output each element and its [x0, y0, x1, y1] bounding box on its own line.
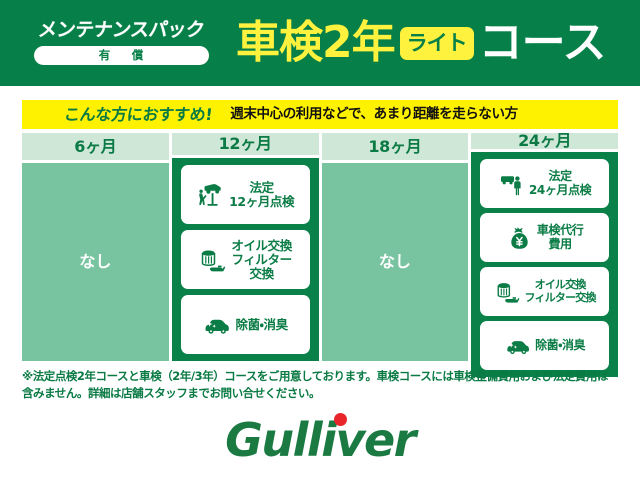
- header-banner: メンテナンスパック 有 償 車検2年 ライト コース: [0, 0, 640, 86]
- footnote: ※法定点検2年コースと車検（2年/3年）コースをご用意しております。車検コースに…: [22, 368, 622, 401]
- course-title-course: コース: [479, 21, 606, 65]
- footnote-line-1: ※法定点検2年コースと車検（2年/3年）コースをご用意しております。車検コースに…: [22, 368, 622, 385]
- column-body-6-months: なし: [22, 163, 169, 361]
- column-body-24-months: 法定 24ヶ月点検: [471, 152, 618, 377]
- service-item: 除菌・消臭: [181, 295, 310, 354]
- table-column-24-months: 24ヶ月: [471, 133, 618, 361]
- service-item-label: 法定 24ヶ月点検: [529, 170, 591, 197]
- oil-filter-and-oil-can-icon: [198, 246, 228, 274]
- service-item-label: オイル交換 フィルター交換: [525, 279, 596, 304]
- service-item: 除菌・消臭: [480, 321, 609, 370]
- gulliver-logo-text: Gulliver: [225, 417, 415, 463]
- recommendation-heading: こんな方におすすめ!: [63, 107, 213, 123]
- car-sparkle-icon: [202, 311, 232, 339]
- light-badge: ライト: [400, 27, 474, 60]
- column-header-label: 6ヶ月: [74, 139, 116, 155]
- brand-logo: Gulliver: [0, 412, 640, 468]
- service-item-label: 車検代行 費用: [537, 224, 583, 251]
- course-title-block: 車検2年 ライト コース: [236, 21, 640, 65]
- money-bag-yen-icon: [506, 225, 534, 251]
- service-item-label: 法定 12ヶ月点検: [229, 181, 294, 209]
- service-item: オイル交換 フィルター交換: [480, 267, 609, 316]
- maintenance-pack-poster: メンテナンスパック 有 償 車検2年 ライト コース こんな方におすすめ! 週末…: [0, 0, 640, 480]
- maintenance-pack-block: メンテナンスパック 有 償: [12, 21, 230, 65]
- paid-pill: 有 償: [34, 46, 209, 65]
- table-column-18-months: 18ヶ月 なし: [322, 133, 469, 361]
- footnote-line-2: 含みません。詳細は店舗スタッフまでお問い合せください。: [22, 385, 622, 402]
- table-column-6-months: 6ヶ月 なし: [22, 133, 169, 361]
- recommendation-bar: こんな方におすすめ! 週末中心の利用などで、あまり距離を走らない方: [22, 100, 618, 129]
- course-title-shaken: 車検2年: [236, 21, 395, 65]
- column-header-label: 24ヶ月: [518, 133, 571, 149]
- column-header-label: 12ヶ月: [219, 136, 272, 152]
- service-item-label: オイル交換 フィルター 交換: [231, 239, 292, 281]
- column-header-24-months: 24ヶ月: [471, 133, 618, 149]
- column-header-label: 18ヶ月: [368, 139, 421, 155]
- car-sparkle-icon: [504, 333, 532, 359]
- column-header-6-months: 6ヶ月: [22, 133, 169, 160]
- paid-label: 有 償: [94, 50, 149, 62]
- service-schedule-table: 6ヶ月 なし 12ヶ月: [22, 133, 618, 361]
- service-item: 車検代行 費用: [480, 213, 609, 262]
- car-inspection-staff-icon: [498, 171, 526, 197]
- column-body-18-months: なし: [322, 163, 469, 361]
- no-service-label: なし: [79, 254, 111, 270]
- table-column-12-months: 12ヶ月: [172, 133, 319, 361]
- service-item: 法定 12ヶ月点検: [181, 165, 310, 224]
- no-service-label: なし: [379, 254, 411, 270]
- service-item: 法定 24ヶ月点検: [480, 159, 609, 208]
- column-body-12-months: 法定 12ヶ月点検: [172, 158, 319, 361]
- oil-filter-and-oil-can-icon: [494, 279, 522, 305]
- service-item: オイル交換 フィルター 交換: [181, 230, 310, 289]
- maintenance-pack-title: メンテナンスパック: [37, 21, 205, 40]
- car-on-lift-inspection-icon: [196, 181, 226, 209]
- column-header-12-months: 12ヶ月: [172, 133, 319, 155]
- column-header-18-months: 18ヶ月: [322, 133, 469, 160]
- recommendation-description: 週末中心の利用などで、あまり距離を走らない方: [230, 108, 517, 122]
- service-item-label: 除菌・消臭: [235, 318, 287, 332]
- service-item-label: 除菌・消臭: [535, 339, 585, 352]
- light-badge-label: ライト: [407, 33, 467, 54]
